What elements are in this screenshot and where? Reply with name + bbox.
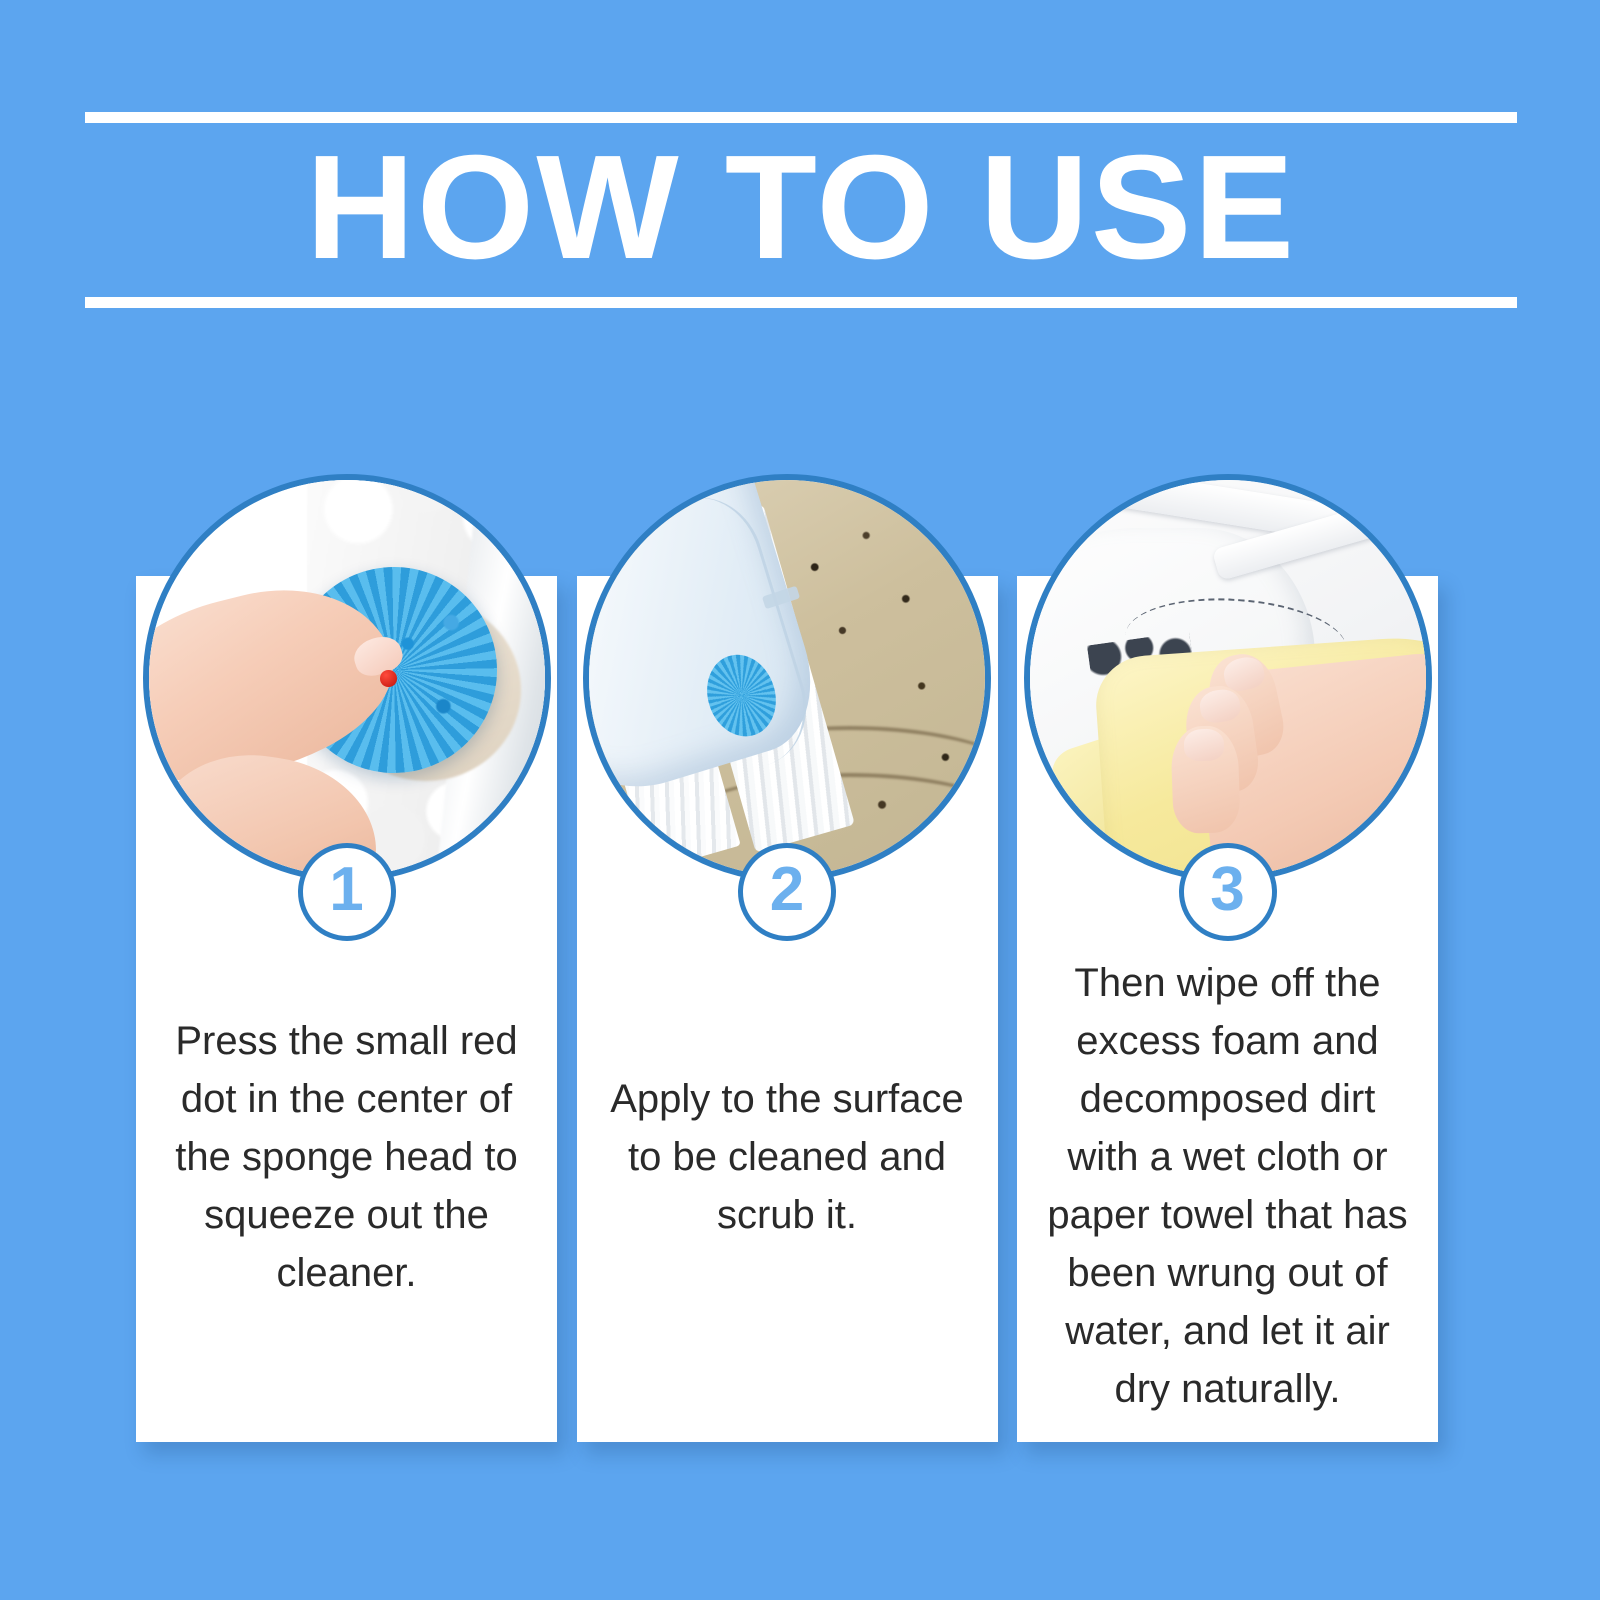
step-number-1: 1 <box>329 859 363 921</box>
step-number-3: 3 <box>1210 859 1244 921</box>
step-2-photo-wrap <box>583 474 991 882</box>
page-header: HOW TO USE <box>85 112 1517 308</box>
step-card-2: 2 Apply to the surface to be cleaned and… <box>577 576 998 1442</box>
step-description-1: Press the small red dot in the center of… <box>136 1012 557 1302</box>
step-description-2: Apply to the surface to be cleaned and s… <box>577 1070 998 1244</box>
step-number-2: 2 <box>770 859 804 921</box>
header-rule-bottom <box>85 297 1517 308</box>
hand-wiping-white-sneaker-with-yellow-cloth-photo <box>1024 474 1432 882</box>
step-description-3: Then wipe off the excess foam and decomp… <box>1017 954 1438 1418</box>
step-3-photo-wrap <box>1024 474 1432 882</box>
steps-row: 1 Press the small red dot in the center … <box>136 576 1438 1442</box>
step-card-1: 1 Press the small red dot in the center … <box>136 576 557 1442</box>
step-number-badge-1: 1 <box>298 843 396 941</box>
step-number-badge-2: 2 <box>738 843 836 941</box>
step-number-badge-3: 3 <box>1179 843 1277 941</box>
step-card-3: 3 Then wipe off the excess foam and deco… <box>1017 576 1438 1442</box>
finger-pressing-blue-sponge-brush-photo <box>143 474 551 882</box>
red-dot-icon <box>380 670 397 687</box>
header-rule-top <box>85 112 1517 123</box>
brush-scrubbing-dirty-surface-photo <box>583 474 991 882</box>
step-1-photo-wrap <box>143 474 551 882</box>
page-title: HOW TO USE <box>71 123 1532 297</box>
